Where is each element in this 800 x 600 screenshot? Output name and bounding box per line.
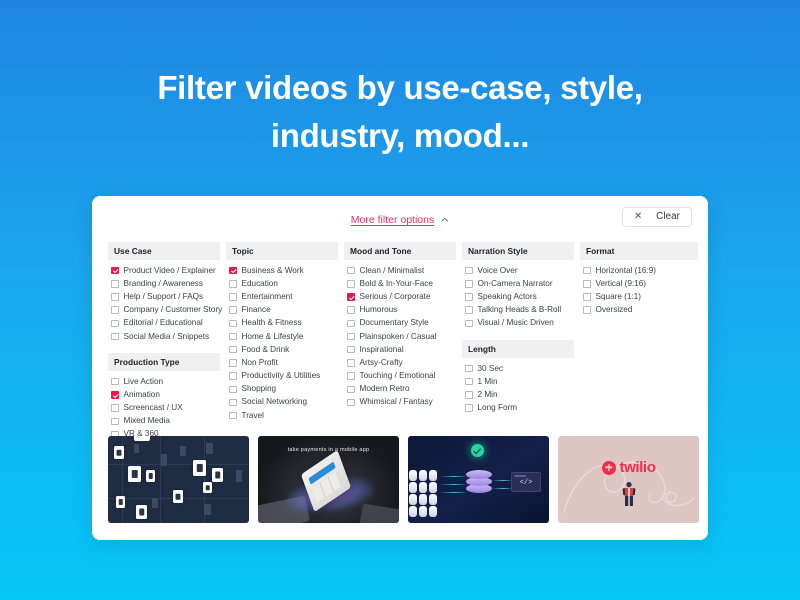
filter-option-label: On-Camera Narrator — [478, 279, 553, 289]
filter-column: Use CaseProduct Video / ExplainerBrandin… — [108, 242, 220, 441]
checkbox-icon[interactable] — [465, 267, 473, 275]
checkbox-icon[interactable] — [347, 399, 355, 407]
filter-option[interactable]: Social Networking — [226, 396, 338, 409]
thumbnail-twilio[interactable]: twilio — [558, 436, 699, 523]
circuit-block — [236, 470, 242, 482]
filter-option[interactable]: Productivity & Utilities — [226, 370, 338, 383]
icon-card — [212, 468, 223, 482]
filter-option[interactable]: Editorial / Educational — [108, 317, 220, 330]
server-node — [429, 506, 437, 517]
filter-option-label: Company / Customer Story — [124, 305, 223, 315]
checkbox-icon[interactable] — [465, 293, 473, 301]
filter-option[interactable]: Bold & In-Your-Face — [344, 277, 456, 290]
filter-option[interactable]: Oversized — [580, 304, 698, 317]
filter-option-label: Travel — [242, 411, 264, 421]
filter-option[interactable]: Inspirational — [344, 343, 456, 356]
server-node — [419, 482, 427, 493]
checkbox-icon[interactable] — [347, 320, 355, 328]
filter-column: Narration StyleVoice OverOn-Camera Narra… — [462, 242, 574, 441]
database-icon — [466, 470, 492, 496]
server-node — [409, 482, 417, 493]
checkbox-icon[interactable] — [583, 280, 591, 288]
filter-option[interactable]: Live Action — [108, 375, 220, 388]
filter-option-label: Screencast / UX — [124, 403, 183, 413]
filter-option-label: Productivity & Utilities — [242, 371, 321, 381]
circuit-block — [204, 504, 211, 515]
filter-option[interactable]: Business & Work — [226, 264, 338, 277]
checkbox-icon[interactable] — [229, 386, 237, 394]
checkbox-icon[interactable] — [347, 306, 355, 314]
data-flow-line — [440, 492, 468, 493]
filter-panel-card: More filter options ✕ Clear Use CaseProd… — [92, 196, 708, 540]
filter-column: TopicBusiness & WorkEducationEntertainme… — [226, 242, 338, 441]
filter-option-label: Food & Drink — [242, 345, 290, 355]
filter-option[interactable]: Entertainment — [226, 290, 338, 303]
clear-button-label: Clear — [653, 208, 691, 226]
icon-card — [203, 482, 212, 493]
filter-option[interactable]: Education — [226, 277, 338, 290]
clear-button[interactable]: ✕ Clear — [622, 207, 692, 227]
filter-option[interactable]: Food & Drink — [226, 343, 338, 356]
checkbox-icon[interactable] — [111, 306, 119, 314]
filter-option-label: Whimsical / Fantasy — [360, 397, 433, 407]
filter-option[interactable]: Finance — [226, 304, 338, 317]
filter-option-label: Speaking Actors — [478, 292, 537, 302]
headline-line-1: Filter videos by use-case, style, — [0, 64, 800, 112]
checkbox-icon[interactable] — [583, 293, 591, 301]
checkbox-icon[interactable] — [465, 280, 473, 288]
circuit-trace — [108, 464, 249, 465]
filter-option[interactable]: Touching / Emotional — [344, 370, 456, 383]
filter-option[interactable]: Horizontal (16:9) — [580, 264, 698, 277]
filter-group-header: Use Case — [108, 242, 220, 260]
icon-card — [116, 496, 125, 508]
server-node — [409, 506, 417, 517]
filter-group-header: Production Type — [108, 353, 220, 371]
checkbox-icon[interactable] — [347, 267, 355, 275]
filter-option-label: Entertainment — [242, 292, 293, 302]
checkbox-icon[interactable] — [465, 320, 473, 328]
filter-option-label: Live Action — [124, 377, 164, 387]
filter-option[interactable]: Artsy-Crafty — [344, 356, 456, 369]
thumbnail-mobile-payments[interactable]: take payments in a mobile app — [258, 436, 399, 523]
checkbox-icon[interactable] — [347, 359, 355, 367]
filter-option-label: Social Networking — [242, 397, 308, 407]
filter-group-header: Narration Style — [462, 242, 574, 260]
filter-option[interactable]: Non Profit — [226, 356, 338, 369]
filter-option[interactable]: Branding / Awareness — [108, 277, 220, 290]
filter-option-label: Shopping — [242, 384, 277, 394]
filter-option[interactable]: 2 Min — [462, 388, 574, 401]
chevron-up-icon — [441, 216, 449, 224]
filter-panel-topbar: More filter options ✕ Clear — [92, 196, 708, 236]
data-flow-line — [440, 476, 468, 477]
server-node — [419, 506, 427, 517]
checkbox-icon[interactable] — [111, 280, 119, 288]
checkbox-icon[interactable] — [111, 418, 119, 426]
swirl-decoration — [558, 436, 699, 523]
server-node — [409, 494, 417, 505]
checkbox-icon[interactable] — [347, 386, 355, 394]
filter-option-label: 2 Min — [478, 390, 498, 400]
circuit-notch — [134, 436, 150, 441]
filter-option[interactable]: Company / Customer Story — [108, 304, 220, 317]
circuit-block — [206, 443, 213, 454]
filter-option-label: Oversized — [596, 305, 633, 315]
filter-option-label: Serious / Corporate — [360, 292, 431, 302]
server-node — [419, 494, 427, 505]
checkbox-icon[interactable] — [229, 372, 237, 380]
checkbox-icon[interactable] — [111, 378, 119, 386]
checkbox-icon[interactable] — [347, 333, 355, 341]
checkbox-icon[interactable] — [229, 333, 237, 341]
icon-card — [173, 490, 183, 503]
filter-option[interactable]: 30 Sec — [462, 362, 574, 375]
checkbox-icon[interactable] — [229, 280, 237, 288]
filter-option-label: Horizontal (16:9) — [596, 266, 657, 276]
filter-option[interactable]: Travel — [226, 409, 338, 422]
icon-card — [136, 505, 147, 519]
page-headline: Filter videos by use-case, style, indust… — [0, 64, 800, 160]
filter-option-label: Long Form — [478, 403, 518, 413]
filter-option[interactable]: Speaking Actors — [462, 290, 574, 303]
filter-option-label: Vertical (9:16) — [596, 279, 647, 289]
filter-option-label: Voice Over — [478, 266, 518, 276]
filter-option[interactable]: Talking Heads & B-Roll — [462, 304, 574, 317]
checkbox-icon[interactable] — [229, 399, 237, 407]
checkbox-icon[interactable] — [465, 404, 473, 412]
filter-option-label: Editorial / Educational — [124, 318, 203, 328]
filter-option[interactable]: Home & Lifestyle — [226, 330, 338, 343]
filter-option-label: Social Media / Snippets — [124, 332, 210, 342]
filter-option[interactable]: Plainspoken / Casual — [344, 330, 456, 343]
circuit-block — [161, 454, 167, 466]
filter-option-label: Visual / Music Driven — [478, 318, 554, 328]
filter-option-label: 30 Sec — [478, 364, 504, 374]
filter-option-label: Documentary Style — [360, 318, 429, 328]
checkbox-checked-icon[interactable] — [347, 293, 355, 301]
filter-group-header: Mood and Tone — [344, 242, 456, 260]
filter-option-label: Help / Support / FAQs — [124, 292, 204, 302]
filter-column: FormatHorizontal (16:9)Vertical (9:16)Sq… — [580, 242, 698, 441]
checkbox-icon[interactable] — [465, 365, 473, 373]
twilio-logo: twilio — [558, 459, 699, 476]
checkbox-icon[interactable] — [229, 412, 237, 420]
filter-option-label: Inspirational — [360, 345, 404, 355]
filter-option-label: Business & Work — [242, 266, 304, 276]
checkbox-icon[interactable] — [111, 404, 119, 412]
filter-option-label: Branding / Awareness — [124, 279, 204, 289]
filter-option-label: Talking Heads & B-Roll — [478, 305, 562, 315]
filter-option[interactable]: 1 Min — [462, 375, 574, 388]
filter-option-label: Bold & In-Your-Face — [360, 279, 433, 289]
filter-option[interactable]: Clean / Minimalist — [344, 264, 456, 277]
checkbox-icon[interactable] — [583, 306, 591, 314]
more-filter-options-link[interactable]: More filter options — [351, 214, 449, 226]
checkbox-icon[interactable] — [583, 267, 591, 275]
filter-option[interactable]: Help / Support / FAQs — [108, 290, 220, 303]
checkbox-icon[interactable] — [229, 359, 237, 367]
filter-option-label: Plainspoken / Casual — [360, 332, 437, 342]
icon-card — [128, 466, 141, 482]
filter-option[interactable]: Shopping — [226, 383, 338, 396]
checkbox-icon[interactable] — [465, 378, 473, 386]
filter-option-label: Touching / Emotional — [360, 371, 436, 381]
filter-option-label: Home & Lifestyle — [242, 332, 304, 342]
server-node — [429, 494, 437, 505]
filter-group-header: Topic — [226, 242, 338, 260]
circuit-block — [152, 498, 158, 508]
checkbox-icon[interactable] — [347, 372, 355, 380]
filter-option[interactable]: Mixed Media — [108, 415, 220, 428]
filter-option-label: Education — [242, 279, 278, 289]
more-filter-options-label: More filter options — [351, 214, 434, 226]
checkbox-checked-icon[interactable] — [229, 267, 237, 275]
video-thumbnail-row: take payments in a mobile app — [108, 436, 692, 523]
person-illustration — [620, 481, 638, 507]
filter-option-label: Humorous — [360, 305, 398, 315]
checkbox-icon[interactable] — [229, 306, 237, 314]
checkbox-icon[interactable] — [347, 346, 355, 354]
checkbox-checked-icon[interactable] — [111, 267, 119, 275]
server-node — [429, 482, 437, 493]
checkbox-checked-icon[interactable] — [111, 391, 119, 399]
twilio-mark-icon — [602, 461, 616, 475]
filter-option[interactable]: Humorous — [344, 304, 456, 317]
filter-option-label: Artsy-Crafty — [360, 358, 403, 368]
code-window-icon: </> — [511, 472, 541, 492]
server-node — [429, 470, 437, 481]
filter-option-label: Product Video / Explainer — [124, 266, 216, 276]
twilio-wordmark: twilio — [620, 459, 656, 476]
thumbnail-caption: take payments in a mobile app — [258, 447, 399, 453]
checkbox-icon[interactable] — [111, 293, 119, 301]
check-badge-icon — [471, 444, 484, 457]
filter-group-header: Format — [580, 242, 698, 260]
filter-option[interactable]: Serious / Corporate — [344, 290, 456, 303]
filter-option-label: Modern Retro — [360, 384, 410, 394]
filter-option-label: Finance — [242, 305, 271, 315]
checkbox-icon[interactable] — [229, 320, 237, 328]
filter-option-label: Clean / Minimalist — [360, 266, 425, 276]
icon-card — [114, 446, 124, 459]
checkbox-icon[interactable] — [111, 333, 119, 341]
filter-option[interactable]: Social Media / Snippets — [108, 330, 220, 343]
icon-card — [193, 460, 206, 476]
close-icon[interactable]: ✕ — [623, 208, 653, 226]
filter-option[interactable]: Voice Over — [462, 264, 574, 277]
filter-option[interactable]: Documentary Style — [344, 317, 456, 330]
thumbnail-circuit-icons[interactable] — [108, 436, 249, 523]
circuit-trace — [160, 436, 161, 523]
data-flow-line — [440, 484, 468, 485]
filter-option[interactable]: Visual / Music Driven — [462, 317, 574, 330]
filter-column: Mood and ToneClean / MinimalistBold & In… — [344, 242, 456, 441]
circuit-block — [134, 444, 139, 453]
filter-option[interactable]: On-Camera Narrator — [462, 277, 574, 290]
filter-option[interactable]: Product Video / Explainer — [108, 264, 220, 277]
checkbox-icon[interactable] — [229, 346, 237, 354]
filter-option[interactable]: Square (1:1) — [580, 290, 698, 303]
thumbnail-database-pipeline[interactable]: </> — [408, 436, 549, 523]
circuit-block — [180, 446, 186, 456]
filter-option-label: Animation — [124, 390, 160, 400]
filter-option[interactable]: Screencast / UX — [108, 402, 220, 415]
filter-group-header: Length — [462, 340, 574, 358]
headline-line-2: industry, mood... — [0, 112, 800, 160]
filter-option[interactable]: Health & Fitness — [226, 317, 338, 330]
filter-option[interactable]: Whimsical / Fantasy — [344, 396, 456, 409]
filter-option-label: Health & Fitness — [242, 318, 302, 328]
filter-option-label: 1 Min — [478, 377, 498, 387]
filter-option-label: Square (1:1) — [596, 292, 642, 302]
filter-option[interactable]: Animation — [108, 388, 220, 401]
checkbox-icon[interactable] — [465, 306, 473, 314]
filter-columns: Use CaseProduct Video / ExplainerBrandin… — [108, 242, 692, 441]
checkbox-icon[interactable] — [111, 320, 119, 328]
checkbox-icon[interactable] — [347, 280, 355, 288]
filter-option[interactable]: Long Form — [462, 402, 574, 415]
server-node — [409, 470, 417, 481]
checkbox-icon[interactable] — [465, 391, 473, 399]
icon-card — [146, 470, 155, 482]
server-node — [419, 470, 427, 481]
filter-option-label: Non Profit — [242, 358, 278, 368]
filter-option[interactable]: Modern Retro — [344, 383, 456, 396]
filter-option[interactable]: Vertical (9:16) — [580, 277, 698, 290]
filter-option-label: Mixed Media — [124, 416, 170, 426]
checkbox-icon[interactable] — [229, 293, 237, 301]
